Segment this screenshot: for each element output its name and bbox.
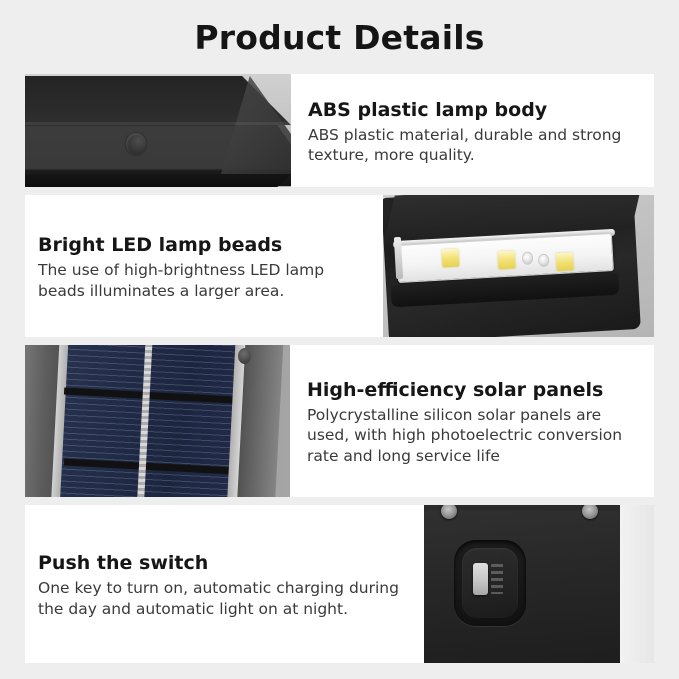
led-chip xyxy=(498,250,516,269)
feature-row-high-efficiency-solar-panels: High-efficiency solar panels Polycrystal… xyxy=(25,345,654,497)
feature-description: The use of high-brightness LED lamp bead… xyxy=(38,260,367,301)
feature-row-bright-led-lamp-beads: Bright LED lamp beads The use of high-br… xyxy=(25,195,654,337)
led-sensor-dot xyxy=(538,254,550,268)
switch-slider-button xyxy=(473,563,488,595)
switch-recess-inner xyxy=(462,548,518,618)
led-chip xyxy=(556,252,574,271)
led-chip xyxy=(441,249,459,268)
product-details-page: Product Details ABS plastic lamp body AB… xyxy=(0,0,679,679)
led-beads-image-graphic xyxy=(383,195,654,337)
lamp-body-image-graphic xyxy=(25,74,291,187)
feature-title: Bright LED lamp beads xyxy=(38,233,367,257)
feature-title: Push the switch xyxy=(38,551,408,575)
switch-label-marks xyxy=(491,564,503,594)
feature-text-high-efficiency-solar-panels: High-efficiency solar panels Polycrystal… xyxy=(290,345,654,497)
switch-image-graphic xyxy=(424,505,654,663)
lamp-body-screw-hole xyxy=(126,133,146,155)
led-beads-photo xyxy=(383,195,654,337)
feature-text-push-the-switch: Push the switch One key to turn on, auto… xyxy=(25,505,424,663)
feature-title: ABS plastic lamp body xyxy=(308,98,638,122)
feature-text-abs-plastic-lamp-body: ABS plastic lamp body ABS plastic materi… xyxy=(291,74,654,187)
feature-description: Polycrystalline silicon solar panels are… xyxy=(307,405,638,467)
feature-title: High-efficiency solar panels xyxy=(307,378,638,402)
solar-panel-photo xyxy=(25,345,290,497)
feature-row-abs-plastic-lamp-body: ABS plastic lamp body ABS plastic materi… xyxy=(25,74,654,187)
lamp-body-base-edge xyxy=(25,174,291,187)
feature-description: One key to turn on, automatic charging d… xyxy=(38,578,408,619)
switch-photo-right-margin xyxy=(620,505,654,663)
lamp-body-photo xyxy=(25,74,291,187)
lamp-body-highlight-line xyxy=(25,122,291,125)
page-title: Product Details xyxy=(0,18,679,58)
feature-text-bright-led-lamp-beads: Bright LED lamp beads The use of high-br… xyxy=(25,195,383,337)
solar-panel-screw xyxy=(238,348,251,364)
feature-description: ABS plastic material, durable and strong… xyxy=(308,125,638,166)
feature-row-push-the-switch: Push the switch One key to turn on, auto… xyxy=(25,505,654,663)
solar-panel-image-graphic xyxy=(25,345,290,497)
led-sensor-dot xyxy=(522,251,534,265)
switch-photo xyxy=(424,505,654,663)
